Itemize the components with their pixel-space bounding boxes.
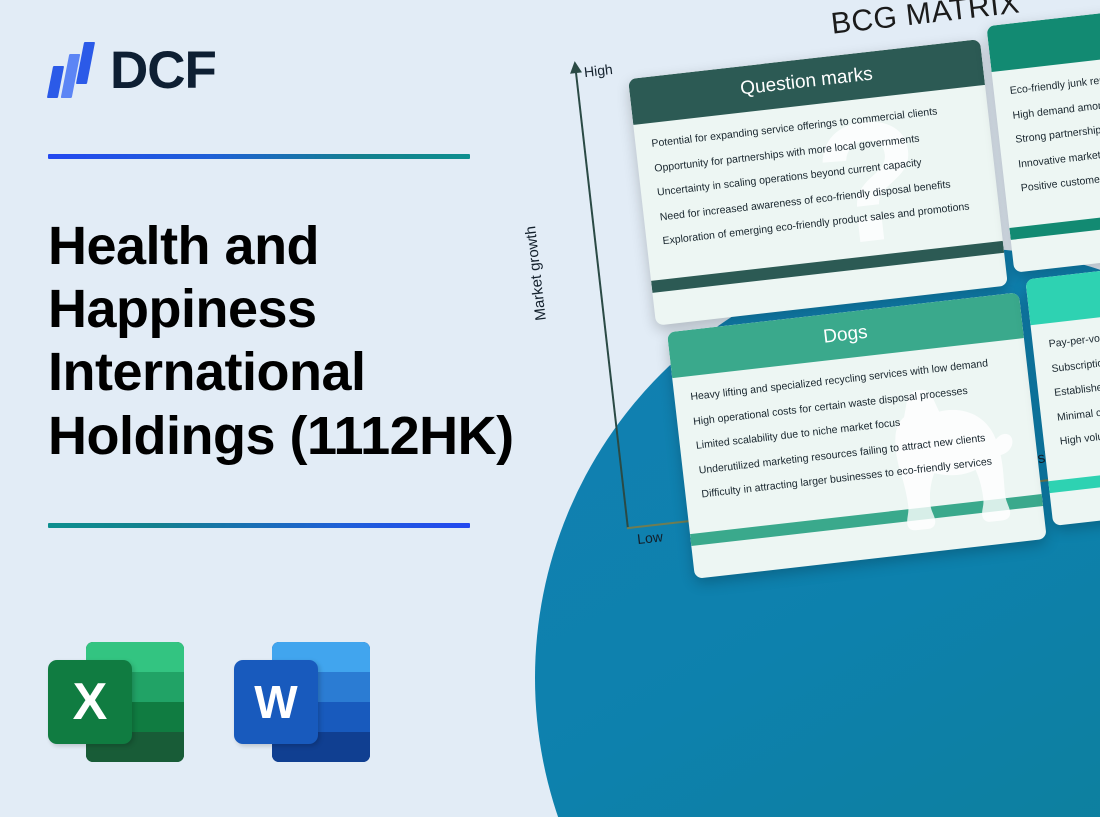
bcg-matrix-graphic: BCG MATRIX High Low Market growth Market… [480, 0, 1100, 817]
quadrant-question-marks[interactable]: Question marks ? Potential for expanding… [628, 39, 1008, 325]
y-axis-high-label: High [583, 61, 613, 80]
divider-top [48, 154, 470, 159]
quadrant-stars[interactable]: Stars Eco-friendly junk remo High demand… [986, 0, 1100, 273]
y-axis-low-label: Low [636, 528, 663, 547]
word-letter: W [234, 660, 318, 744]
slide-canvas: BCG MATRIX High Low Market growth Market… [0, 0, 1100, 817]
download-icons: X W [48, 632, 370, 768]
word-file-icon[interactable]: W [234, 632, 370, 768]
y-axis [575, 71, 629, 528]
page-title: Health and Happiness International Holdi… [48, 215, 548, 468]
divider-bottom [48, 523, 470, 528]
matrix-stage: BCG MATRIX High Low Market growth Market… [480, 0, 1100, 817]
brand-logo-text: DCF [110, 44, 216, 97]
bar-chart-logo-icon [48, 42, 96, 98]
brand-logo[interactable]: DCF [48, 42, 216, 98]
excel-file-icon[interactable]: X [48, 632, 184, 768]
quadrant-dogs[interactable]: Dogs Heavy lifting and specialized recyc… [667, 292, 1047, 578]
title-panel: DCF Health and Happiness International H… [0, 0, 560, 817]
excel-letter: X [48, 660, 132, 744]
